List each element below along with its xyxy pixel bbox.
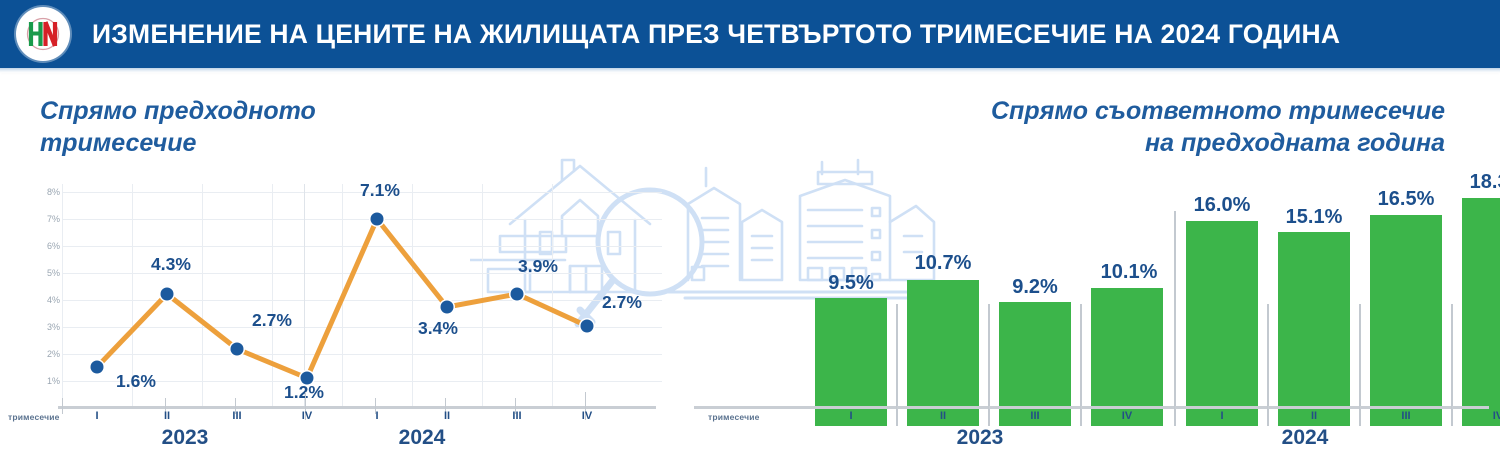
x-axis-quarter-label: II: [444, 410, 450, 422]
data-label: 3.9%: [518, 256, 558, 277]
bar-value-label: 9.2%: [1012, 276, 1058, 299]
x-axis-quarter-label: IV: [1493, 410, 1500, 422]
bar-value-label: 10.7%: [915, 252, 972, 275]
bar: [1278, 232, 1350, 426]
x-axis-caption: тримесечие: [8, 412, 60, 422]
data-point-marker: [511, 288, 524, 301]
line-series: [14, 184, 664, 422]
data-point-marker: [231, 343, 244, 356]
x-axis-year-label: 2024: [399, 426, 446, 450]
left-chart-subtitle: Спрямо предходното тримесечие: [40, 96, 316, 159]
axis-tick: [988, 398, 989, 414]
x-axis-year-label: 2023: [162, 426, 209, 450]
data-label: 1.2%: [284, 382, 324, 403]
header-bar: ИЗМЕНЕНИЕ НА ЦЕНИТЕ НА ЖИЛИЩАТА ПРЕЗ ЧЕТ…: [0, 0, 1500, 68]
axis-tick: [62, 398, 63, 414]
bar-value-label: 16.0%: [1194, 194, 1251, 217]
data-label: 2.7%: [252, 310, 292, 331]
x-axis-quarter-label: III: [1401, 410, 1410, 422]
data-label: 2.7%: [602, 292, 642, 313]
x-axis-quarter-label: II: [940, 410, 946, 422]
nsi-logo-icon: [19, 10, 67, 58]
data-point-marker: [371, 213, 384, 226]
x-axis-quarter-label: III: [232, 410, 241, 422]
left-chart-panel: Спрямо предходното тримесечие 8% 7% 6% 5…: [0, 74, 680, 462]
bar: [1370, 215, 1442, 426]
x-axis-year-label: 2024: [1282, 426, 1329, 450]
x-axis-quarter-label: IV: [1122, 410, 1132, 422]
line-chart: 8% 7% 6% 5% 4% 3% 2% 1%: [14, 184, 664, 422]
data-label: 3.4%: [418, 318, 458, 339]
x-axis-quarter-label: I: [1220, 410, 1223, 422]
x-axis-year-label: 2023: [957, 426, 1004, 450]
right-chart-subtitle: Спрямо съответното тримесечие на предход…: [991, 96, 1445, 159]
data-point-marker: [581, 320, 594, 333]
axis-tick: [1080, 398, 1081, 414]
x-axis-quarter-label: IV: [302, 410, 312, 422]
axis-year-separator: [1174, 392, 1175, 420]
nsi-logo: [16, 7, 70, 61]
bar-value-label: 9.5%: [828, 272, 874, 295]
bar-chart: 9.5% 10.7% 9.2% 10.1% 16.0% 15.1% 16.5% …: [710, 166, 1500, 426]
bar-value-label: 15.1%: [1286, 206, 1343, 229]
data-point-marker: [91, 361, 104, 374]
axis-tick: [896, 398, 897, 414]
bar-value-label: 10.1%: [1101, 261, 1158, 284]
page-title: ИЗМЕНЕНИЕ НА ЦЕНИТЕ НА ЖИЛИЩАТА ПРЕЗ ЧЕТ…: [92, 19, 1340, 50]
x-axis-quarter-label: I: [849, 410, 852, 422]
bar: [1186, 221, 1258, 426]
header-underline: [0, 68, 1500, 73]
bar-value-label: 16.5%: [1378, 188, 1435, 211]
axis-tick: [1451, 398, 1452, 414]
x-axis-quarter-label: II: [1311, 410, 1317, 422]
x-axis-quarter-label: IV: [582, 410, 592, 422]
infographic-root: ИЗМЕНЕНИЕ НА ЦЕНИТЕ НА ЖИЛИЩАТА ПРЕЗ ЧЕТ…: [0, 0, 1500, 462]
data-label: 1.6%: [116, 371, 156, 392]
x-axis-caption: тримесечие: [708, 412, 760, 422]
x-axis-line: [58, 406, 656, 409]
x-axis-line: [694, 406, 1489, 409]
data-point-marker: [161, 288, 174, 301]
x-axis-quarter-label: II: [164, 410, 170, 422]
bar: [1462, 198, 1500, 426]
bar-value-label: 18.3%: [1470, 171, 1500, 194]
x-axis-quarter-label: I: [95, 410, 98, 422]
data-label: 7.1%: [360, 180, 400, 201]
right-chart-panel: Спрямо съответното тримесечие на предход…: [680, 74, 1500, 462]
x-axis-quarter-label: III: [1030, 410, 1039, 422]
axis-tick: [1267, 398, 1268, 414]
bar: [907, 280, 979, 426]
x-axis-quarter-label: I: [375, 410, 378, 422]
data-point-marker: [441, 301, 454, 314]
axis-tick: [1359, 398, 1360, 414]
data-label: 4.3%: [151, 254, 191, 275]
x-axis-quarter-label: III: [512, 410, 521, 422]
